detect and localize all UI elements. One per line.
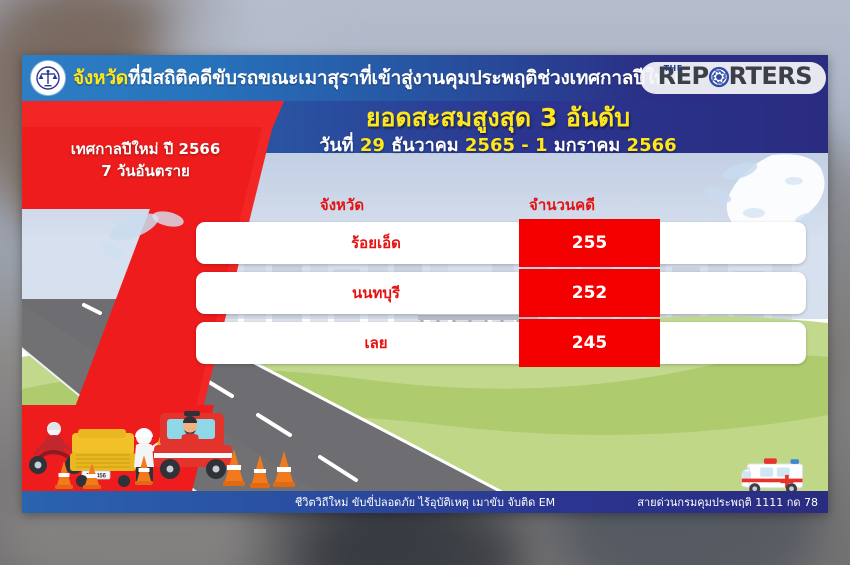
- date-month-to: มกราคม: [548, 135, 627, 156]
- table-row[interactable]: เลย 245: [196, 322, 806, 364]
- poster-footer: ชีวิตวิถีใหม่ ขับขี่ปลอดภัย ไร้อุบัติเหต…: [22, 491, 828, 513]
- date-to: 1: [535, 135, 548, 156]
- traffic-cones-group: [222, 447, 302, 493]
- row-cases-badge: 252: [519, 269, 660, 317]
- row-cases-badge: 255: [519, 219, 660, 267]
- row-cases-value: 245: [572, 333, 608, 353]
- row-cases-value: 255: [572, 233, 608, 253]
- row-cases-value: 252: [572, 283, 608, 303]
- scales-of-justice-emblem-icon: [31, 61, 65, 95]
- subtitle-heading: ยอดสะสมสูงสุด 3 อันดับ: [308, 105, 688, 130]
- footer-hotline: สายด่วนกรมคุมประพฤติ 1111 กด 78: [637, 491, 818, 513]
- poster-title-rest: ที่มีสถิติคดีขับรถขณะเมาสุราที่เข้าสู่งา…: [128, 67, 679, 89]
- traffic-cone-icon: [223, 449, 245, 486]
- table-row[interactable]: นนทบุรี 252: [196, 272, 806, 314]
- poster-title: จังหวัดที่มีสถิติคดีขับรถขณะเมาสุราที่เข…: [73, 69, 679, 88]
- column-header-cases: จำนวนคดี: [472, 193, 652, 217]
- row-province: ร้อยเอ็ด: [236, 222, 516, 264]
- yellow-car-icon: 123456: [70, 429, 136, 487]
- date-from: 29: [360, 135, 385, 156]
- row-cases-badge: 245: [519, 319, 660, 367]
- table-row[interactable]: ร้อยเอ็ด 255: [196, 222, 806, 264]
- festival-line-1: เทศกาลปีใหม่ ปี 2566: [38, 139, 253, 161]
- watermark-the-label: THE: [664, 64, 683, 73]
- camera-aperture-icon: [708, 66, 730, 92]
- date-range: วันที่ 29 ธันวาคม 2565 - 1 มกราคม 2566: [298, 137, 698, 155]
- festival-line-2: 7 วันอันตราย: [38, 161, 253, 183]
- date-month-from: ธันวาคม: [385, 135, 465, 156]
- date-year-to: 2566: [627, 135, 677, 156]
- date-dash: -: [515, 135, 535, 156]
- poster-title-highlight: จังหวัด: [73, 67, 128, 89]
- row-province: นนทบุรี: [236, 272, 516, 314]
- date-prefix: วันที่: [319, 135, 360, 156]
- row-province: เลย: [236, 322, 516, 364]
- water-splash-icon: [82, 205, 212, 285]
- traffic-cone-icon: [273, 451, 295, 487]
- traffic-cone-icon: [250, 455, 270, 488]
- column-header-province: จังหวัด: [252, 193, 432, 217]
- watermark-right: RTERS: [729, 62, 812, 90]
- infographic-poster: เทศกาลปีใหม่ ปี 2566 7 วันอันตราย ยอดสะส…: [22, 55, 828, 513]
- date-year-from: 2565: [465, 135, 515, 156]
- festival-caption: เทศกาลปีใหม่ ปี 2566 7 วันอันตราย: [38, 139, 253, 183]
- the-reporters-watermark: THE REPRTERS: [640, 62, 826, 94]
